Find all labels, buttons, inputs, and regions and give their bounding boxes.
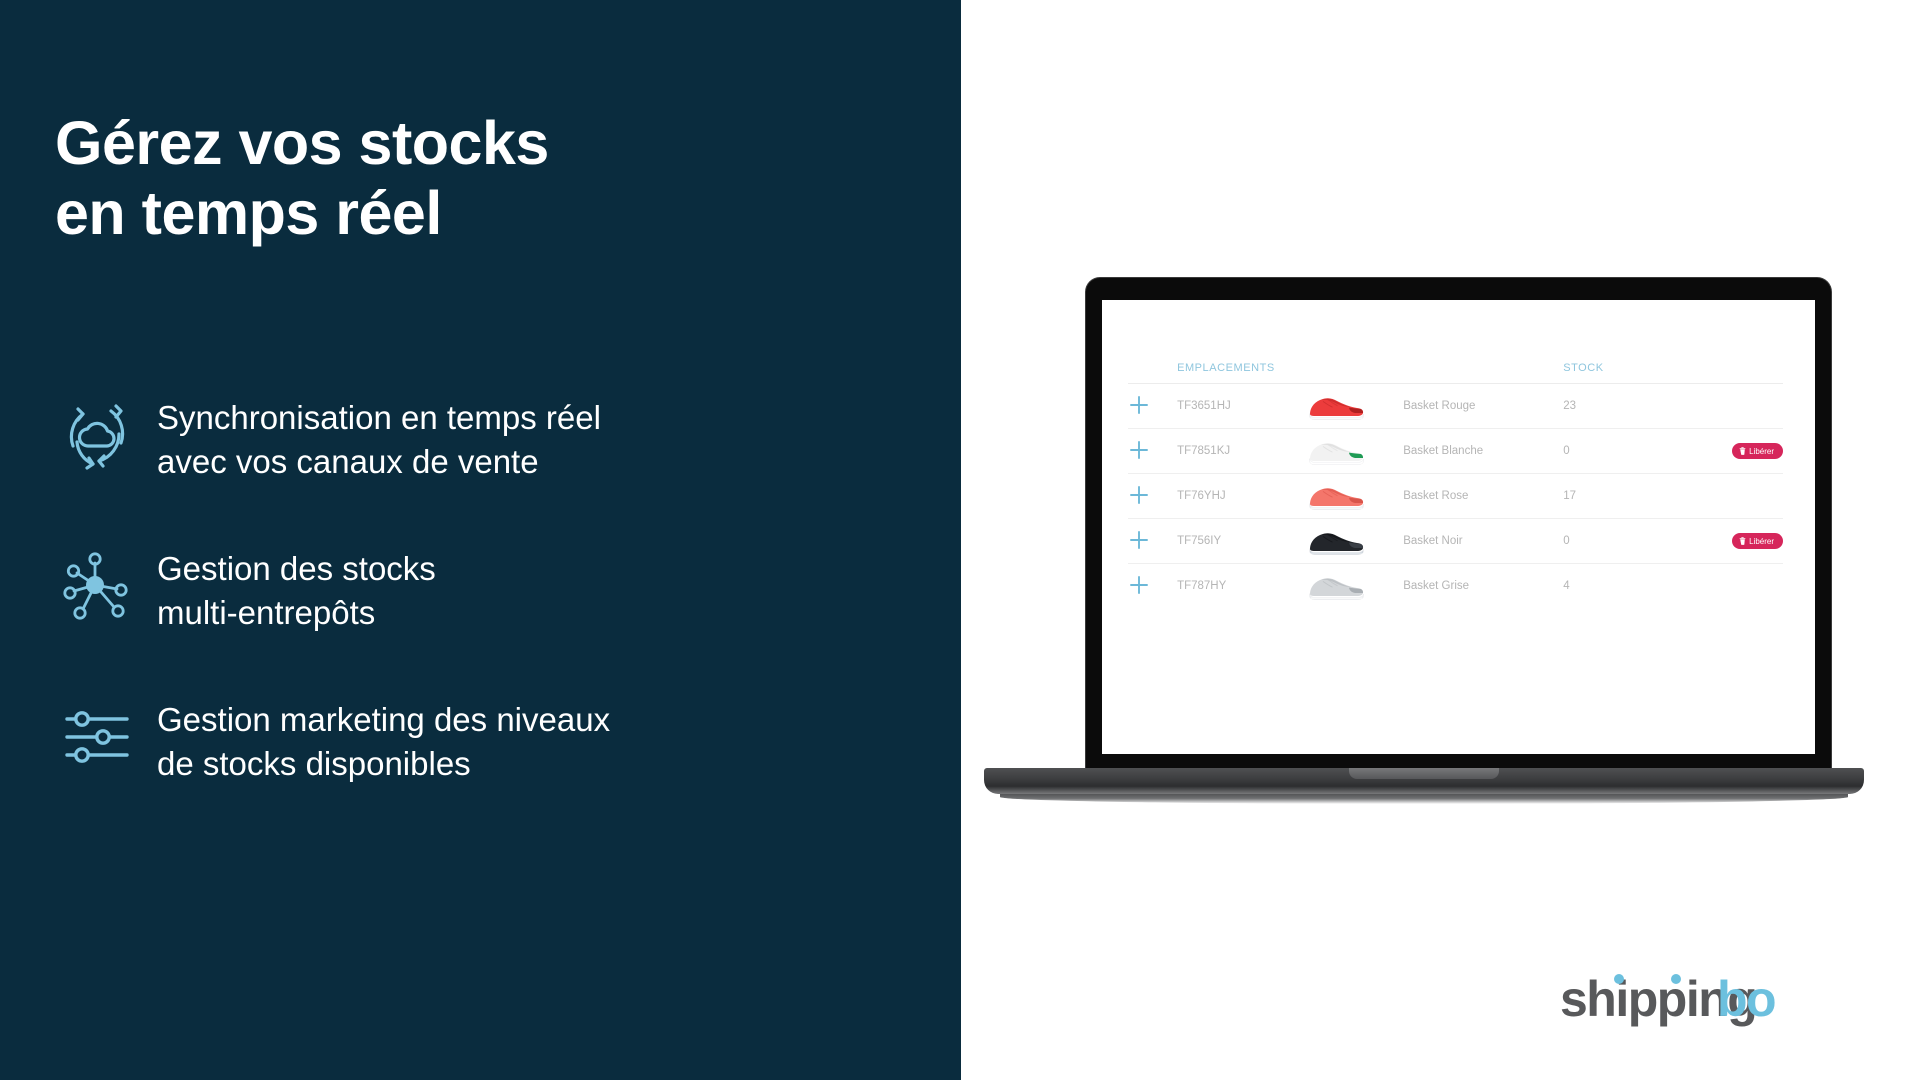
black-sneaker-icon: [1305, 524, 1403, 558]
cell-location: TF76YHJ: [1177, 474, 1305, 519]
feature-3-line-2: de stocks disponibles: [157, 742, 610, 786]
cell-action: [1666, 474, 1783, 519]
feature-3-line-1: Gestion marketing des niveaux: [157, 698, 610, 742]
cell-product-name: Basket Blanche: [1403, 429, 1563, 474]
slide-root: Gérez vos stocks en temps réel: [0, 0, 1920, 1080]
feature-item-synchronisation: Synchronisation en temps réel avec vos c…: [55, 390, 885, 483]
row-expand-cell[interactable]: [1128, 384, 1177, 429]
cell-action: [1666, 564, 1783, 609]
feature-item-multi-entrepots: Gestion des stocks multi-entrepôts: [55, 541, 885, 634]
cell-product-thumbnail: [1305, 474, 1403, 519]
feature-item-marketing: Gestion marketing des niveaux de stocks …: [55, 692, 885, 785]
cell-stock-value: 4: [1563, 564, 1665, 609]
plus-icon[interactable]: [1128, 574, 1150, 596]
table-row[interactable]: TF787HYBasket Grise4: [1128, 564, 1783, 609]
cell-product-thumbnail: [1305, 384, 1403, 429]
cell-product-name: Basket Rouge: [1403, 384, 1563, 429]
liberer-button[interactable]: Libérer: [1732, 443, 1783, 459]
cell-location: TF787HY: [1177, 564, 1305, 609]
liberer-button-label: Libérer: [1749, 537, 1774, 546]
liberer-button-label: Libérer: [1749, 447, 1774, 456]
cell-stock-value: 23: [1563, 384, 1665, 429]
trash-icon: [1739, 447, 1746, 455]
grey-sneaker-icon: [1305, 569, 1403, 603]
headline-line-1: Gérez vos stocks: [55, 109, 549, 177]
column-header-stock[interactable]: STOCK: [1563, 362, 1665, 384]
logo-wordmark: shippingbo: [1560, 968, 1798, 1030]
cell-product-name: Basket Noir: [1403, 519, 1563, 564]
cell-location: TF7851KJ: [1177, 429, 1305, 474]
logo-text-bo: bo: [1717, 971, 1775, 1027]
plus-icon[interactable]: [1128, 394, 1150, 416]
white-green-sneaker-icon: [1305, 434, 1403, 468]
cell-stock-value: 17: [1563, 474, 1665, 519]
trash-icon: [1739, 537, 1746, 545]
feature-text-multi-entrepots: Gestion des stocks multi-entrepôts: [157, 541, 436, 634]
plus-icon[interactable]: [1128, 529, 1150, 551]
column-header-action: [1666, 362, 1783, 384]
laptop-screen: EMPLACEMENTS STOCK TF3651HJBasket Rouge2…: [1102, 300, 1815, 754]
column-header-expand: [1128, 362, 1177, 384]
plus-icon[interactable]: [1128, 439, 1150, 461]
cell-action[interactable]: Libérer: [1666, 519, 1783, 564]
cell-location: TF3651HJ: [1177, 384, 1305, 429]
table-row[interactable]: TF7851KJBasket Blanche0Libérer: [1128, 429, 1783, 474]
stock-app: EMPLACEMENTS STOCK TF3651HJBasket Rouge2…: [1102, 300, 1815, 609]
feature-text-synchronisation: Synchronisation en temps réel avec vos c…: [157, 390, 601, 483]
feature-1-line-1: Synchronisation en temps réel: [157, 396, 601, 440]
cell-product-name: Basket Grise: [1403, 564, 1563, 609]
logo-dot-icon-2: [1671, 974, 1681, 984]
headline-line-2: en temps réel: [55, 178, 549, 248]
row-expand-cell[interactable]: [1128, 519, 1177, 564]
cell-product-thumbnail: [1305, 519, 1403, 564]
feature-text-marketing: Gestion marketing des niveaux de stocks …: [157, 692, 610, 785]
page-title: Gérez vos stocks en temps réel: [55, 108, 549, 248]
coral-sneaker-icon: [1305, 479, 1403, 513]
feature-list: Synchronisation en temps réel avec vos c…: [55, 390, 885, 843]
cell-product-thumbnail: [1305, 564, 1403, 609]
row-expand-cell[interactable]: [1128, 474, 1177, 519]
cell-location: TF756IY: [1177, 519, 1305, 564]
plus-icon[interactable]: [1128, 484, 1150, 506]
logo-dot-icon-1: [1614, 974, 1624, 984]
feature-2-line-1: Gestion des stocks: [157, 547, 436, 591]
column-header-product: [1403, 362, 1563, 384]
sliders-icon: [55, 694, 141, 780]
feature-1-line-2: avec vos canaux de vente: [157, 440, 601, 484]
cell-product-name: Basket Rose: [1403, 474, 1563, 519]
shippingbo-logo: shippingbo: [1560, 968, 1798, 1030]
left-content-panel: Gérez vos stocks en temps réel: [0, 0, 961, 1080]
table-row[interactable]: TF3651HJBasket Rouge23: [1128, 384, 1783, 429]
network-nodes-icon: [55, 543, 141, 629]
cloud-sync-icon: [55, 392, 141, 478]
table-row[interactable]: TF76YHJBasket Rose17: [1128, 474, 1783, 519]
feature-2-line-2: multi-entrepôts: [157, 591, 436, 635]
cell-stock-value: 0: [1563, 519, 1665, 564]
cell-stock-value: 0: [1563, 429, 1665, 474]
stock-table-head: EMPLACEMENTS STOCK: [1128, 362, 1783, 384]
stock-table-header-row: EMPLACEMENTS STOCK: [1128, 362, 1783, 384]
red-sneaker-icon: [1305, 389, 1403, 423]
column-header-emplacements[interactable]: EMPLACEMENTS: [1177, 362, 1305, 384]
table-row[interactable]: TF756IYBasket Noir0Libérer: [1128, 519, 1783, 564]
liberer-button[interactable]: Libérer: [1732, 533, 1783, 549]
laptop-mockup: EMPLACEMENTS STOCK TF3651HJBasket Rouge2…: [1000, 278, 1830, 798]
row-expand-cell[interactable]: [1128, 429, 1177, 474]
column-header-image: [1305, 362, 1403, 384]
cell-product-thumbnail: [1305, 429, 1403, 474]
stock-table-body: TF3651HJBasket Rouge23TF7851KJBasket Bla…: [1128, 384, 1783, 609]
laptop-base: [984, 768, 1864, 794]
cell-action: [1666, 384, 1783, 429]
row-expand-cell[interactable]: [1128, 564, 1177, 609]
laptop-lid: EMPLACEMENTS STOCK TF3651HJBasket Rouge2…: [1086, 278, 1831, 778]
stock-table: EMPLACEMENTS STOCK TF3651HJBasket Rouge2…: [1128, 362, 1783, 609]
cell-action[interactable]: Libérer: [1666, 429, 1783, 474]
